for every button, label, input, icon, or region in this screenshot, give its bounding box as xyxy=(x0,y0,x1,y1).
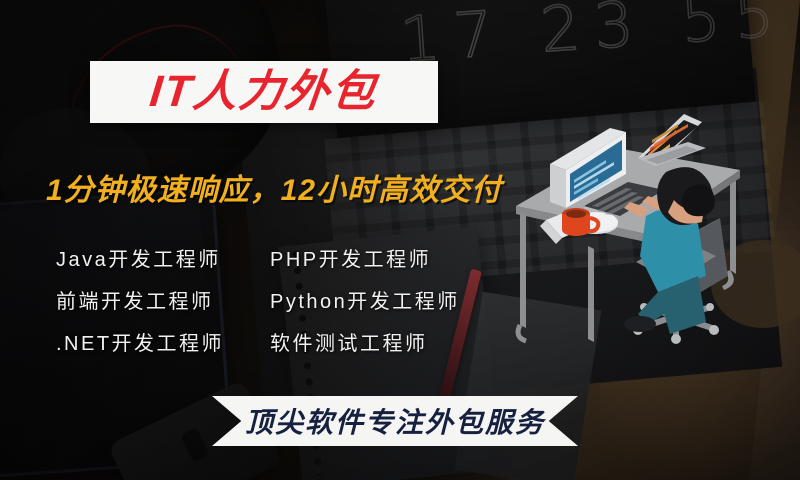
role-item: Python开发工程师 xyxy=(270,285,460,314)
desk-leg-left xyxy=(520,212,526,328)
bottom-ribbon: 顶尖软件专注外包服务 xyxy=(212,396,578,446)
monitor-bezel-left xyxy=(550,164,566,208)
desk-leg-front xyxy=(588,246,594,342)
role-row: Java开发工程师 PHP开发工程师 xyxy=(56,236,476,278)
role-item: 前端开发工程师 xyxy=(56,285,270,314)
mug-coffee xyxy=(566,210,586,218)
role-row: 前端开发工程师 Python开发工程师 xyxy=(56,278,476,320)
headline-banner: IT人力外包 xyxy=(90,61,438,123)
role-item: .NET开发工程师 xyxy=(56,327,270,356)
role-item: PHP开发工程师 xyxy=(270,243,431,272)
ribbon-text: 顶尖软件专注外包服务 xyxy=(212,396,578,446)
person-hair-back xyxy=(682,184,715,216)
developer-illustration xyxy=(498,96,800,352)
person-shoe xyxy=(624,316,656,332)
role-row: .NET开发工程师 软件测试工程师 xyxy=(56,320,476,362)
role-item: Java开发工程师 xyxy=(56,243,270,272)
role-list: Java开发工程师 PHP开发工程师 前端开发工程师 Python开发工程师 .… xyxy=(56,236,476,362)
role-item: 软件测试工程师 xyxy=(270,327,428,356)
subtitle-text: 1分钟极速响应，12小时高效交付 xyxy=(46,165,502,209)
poster-root: 17 23 55 xyxy=(0,0,800,480)
headline-text: IT人力外包 xyxy=(148,70,380,114)
